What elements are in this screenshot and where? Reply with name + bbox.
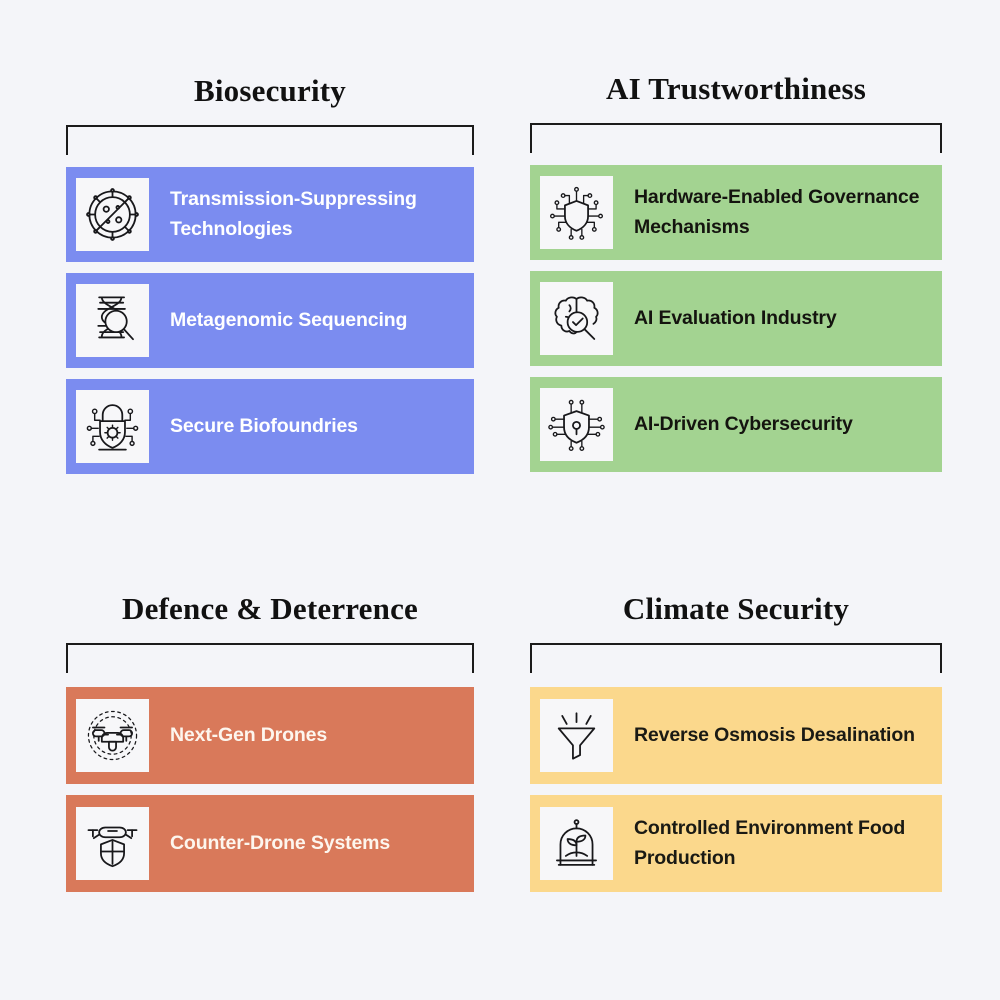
bracket-climate-security — [530, 643, 942, 673]
card-label: Transmission-Suppressing Technologies — [149, 185, 474, 244]
brain-magnifier-check-icon — [540, 282, 613, 355]
card-reverse-osmosis-desalination[interactable]: Reverse Osmosis Desalination — [530, 687, 942, 784]
bracket-defence-deterrence — [66, 643, 474, 673]
dna-magnifier-icon — [76, 284, 149, 357]
drone-shield-icon — [76, 807, 149, 880]
card-list-climate-security: Reverse Osmosis Desalination — [530, 687, 942, 892]
card-label: Counter-Drone Systems — [149, 829, 474, 859]
group-title-ai-trustworthiness: AI Trustworthiness — [530, 72, 942, 106]
group-biosecurity: Biosecurity — [66, 74, 474, 474]
card-secure-biofoundries[interactable]: Secure Biofoundries — [66, 379, 474, 474]
group-defence-deterrence: Defence & Deterrence — [66, 592, 474, 892]
bracket-ai-trustworthiness — [530, 123, 942, 153]
group-title-climate-security: Climate Security — [530, 592, 942, 626]
padlock-shield-virus-icon — [76, 390, 149, 463]
circuit-shield-keyhole-icon — [540, 388, 613, 461]
group-title-defence-deterrence: Defence & Deterrence — [66, 592, 474, 626]
card-label: Reverse Osmosis Desalination — [613, 721, 942, 751]
circuit-shield-icon — [540, 176, 613, 249]
plant-cloche-icon — [540, 807, 613, 880]
card-metagenomic-sequencing[interactable]: Metagenomic Sequencing — [66, 273, 474, 368]
card-label: Next-Gen Drones — [149, 721, 474, 751]
card-label: Hardware-Enabled Governance Mechanisms — [613, 183, 942, 242]
virus-blocked-icon — [76, 178, 149, 251]
card-list-ai-trustworthiness: Hardware-Enabled Governance Mechanisms A… — [530, 165, 942, 472]
card-label: Metagenomic Sequencing — [149, 306, 474, 336]
card-next-gen-drones[interactable]: Next-Gen Drones — [66, 687, 474, 784]
bracket-biosecurity — [66, 125, 474, 155]
card-label: Secure Biofoundries — [149, 412, 474, 442]
card-transmission-suppressing-technologies[interactable]: Transmission-Suppressing Technologies — [66, 167, 474, 262]
card-list-defence-deterrence: Next-Gen Drones — [66, 687, 474, 892]
card-label: AI-Driven Cybersecurity — [613, 410, 942, 440]
card-controlled-environment-food-production[interactable]: Controlled Environment Food Production — [530, 795, 942, 892]
drone-radar-icon — [76, 699, 149, 772]
group-title-biosecurity: Biosecurity — [66, 74, 474, 108]
card-counter-drone-systems[interactable]: Counter-Drone Systems — [66, 795, 474, 892]
card-label: Controlled Environment Food Production — [613, 814, 942, 873]
card-ai-driven-cybersecurity[interactable]: AI-Driven Cybersecurity — [530, 377, 942, 472]
group-climate-security: Climate Security Reverse Osmosis Desalin… — [530, 592, 942, 892]
card-ai-evaluation-industry[interactable]: AI Evaluation Industry — [530, 271, 942, 366]
group-ai-trustworthiness: AI Trustworthiness — [530, 72, 942, 472]
funnel-filter-icon — [540, 699, 613, 772]
infographic-board: Biosecurity — [0, 0, 1000, 1000]
card-list-biosecurity: Transmission-Suppressing Technologies — [66, 167, 474, 474]
card-hardware-enabled-governance-mechanisms[interactable]: Hardware-Enabled Governance Mechanisms — [530, 165, 942, 260]
card-label: AI Evaluation Industry — [613, 304, 942, 334]
